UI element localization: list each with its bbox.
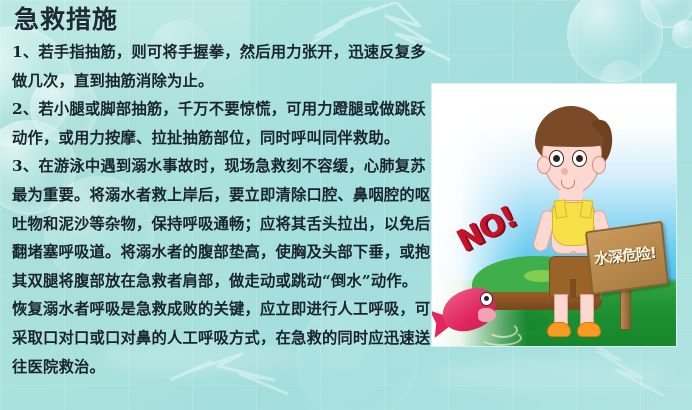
illustration-image: NO! 水深危险!: [432, 84, 676, 346]
text-line: 采取口对口或口对鼻的人工呼吸方式，在急救的同时应迅速送: [12, 324, 428, 353]
fish-icon: [434, 282, 506, 342]
bubble-icon: [672, 20, 692, 48]
text-line: 3、在游泳中遇到溺水事故时，现场急救刻不容缓，心肺复苏: [12, 152, 428, 181]
boy-shirt-strap-left: [554, 199, 567, 218]
text-line: 动作，或用力按摩、拉扯抽筋部位，同时呼叫同伴救助。: [12, 124, 428, 153]
fish-mouth: [478, 308, 496, 322]
text-line: 翻堵塞呼吸道。将溺水者的腹部垫高，使胸及头部下垂，或抱: [12, 238, 428, 267]
boy-ear-right: [592, 156, 606, 174]
text-line: 其双腿将腹部放在急救者肩部，做走动或跳动“倒水”动作。: [12, 267, 428, 296]
text-line: 最为重要。将溺水者救上岸后，要立即清除口腔、鼻咽腔的呕: [12, 181, 428, 210]
sign-text: 水深危险!: [590, 229, 661, 284]
text-line: 往医院救治。: [12, 353, 428, 382]
boy-shoe-right: [577, 322, 601, 337]
slide-canvas: 急救措施 1、若手指抽筋，则可将手握拳，然后用力张开，迅速反复多 做几次，直到抽…: [0, 0, 692, 410]
bubble-icon: [567, 0, 663, 82]
text-line: 恢复溺水者呼吸是急救成败的关键，应立即进行人工呼吸，可: [12, 295, 428, 324]
bubble-icon: [641, 0, 692, 28]
boy-eye-left: [549, 150, 564, 167]
boy-eye-right: [572, 150, 587, 167]
text-line: 1、若手指抽筋，则可将手握拳，然后用力张开，迅速反复多: [12, 38, 428, 67]
page-title: 急救措施: [14, 6, 118, 35]
boy-nose: [561, 168, 568, 175]
body-text-block: 1、若手指抽筋，则可将手握拳，然后用力张开，迅速反复多 做几次，直到抽筋消除为止…: [12, 38, 428, 381]
text-line: 做几次，直到抽筋消除为止。: [12, 67, 428, 96]
warning-sign: 水深危险!: [588, 226, 664, 324]
text-line: 2、若小腿或脚部抽筋，千万不要惊慌，可用力蹬腿或做跳跃: [12, 95, 428, 124]
soft-glow: [430, 360, 670, 390]
text-line: 吐物和泥沙等杂物，保持呼吸通畅；应将其舌头拉出，以免后: [12, 210, 428, 239]
fish-eye: [480, 292, 493, 306]
boy-shoe-left: [547, 322, 571, 337]
